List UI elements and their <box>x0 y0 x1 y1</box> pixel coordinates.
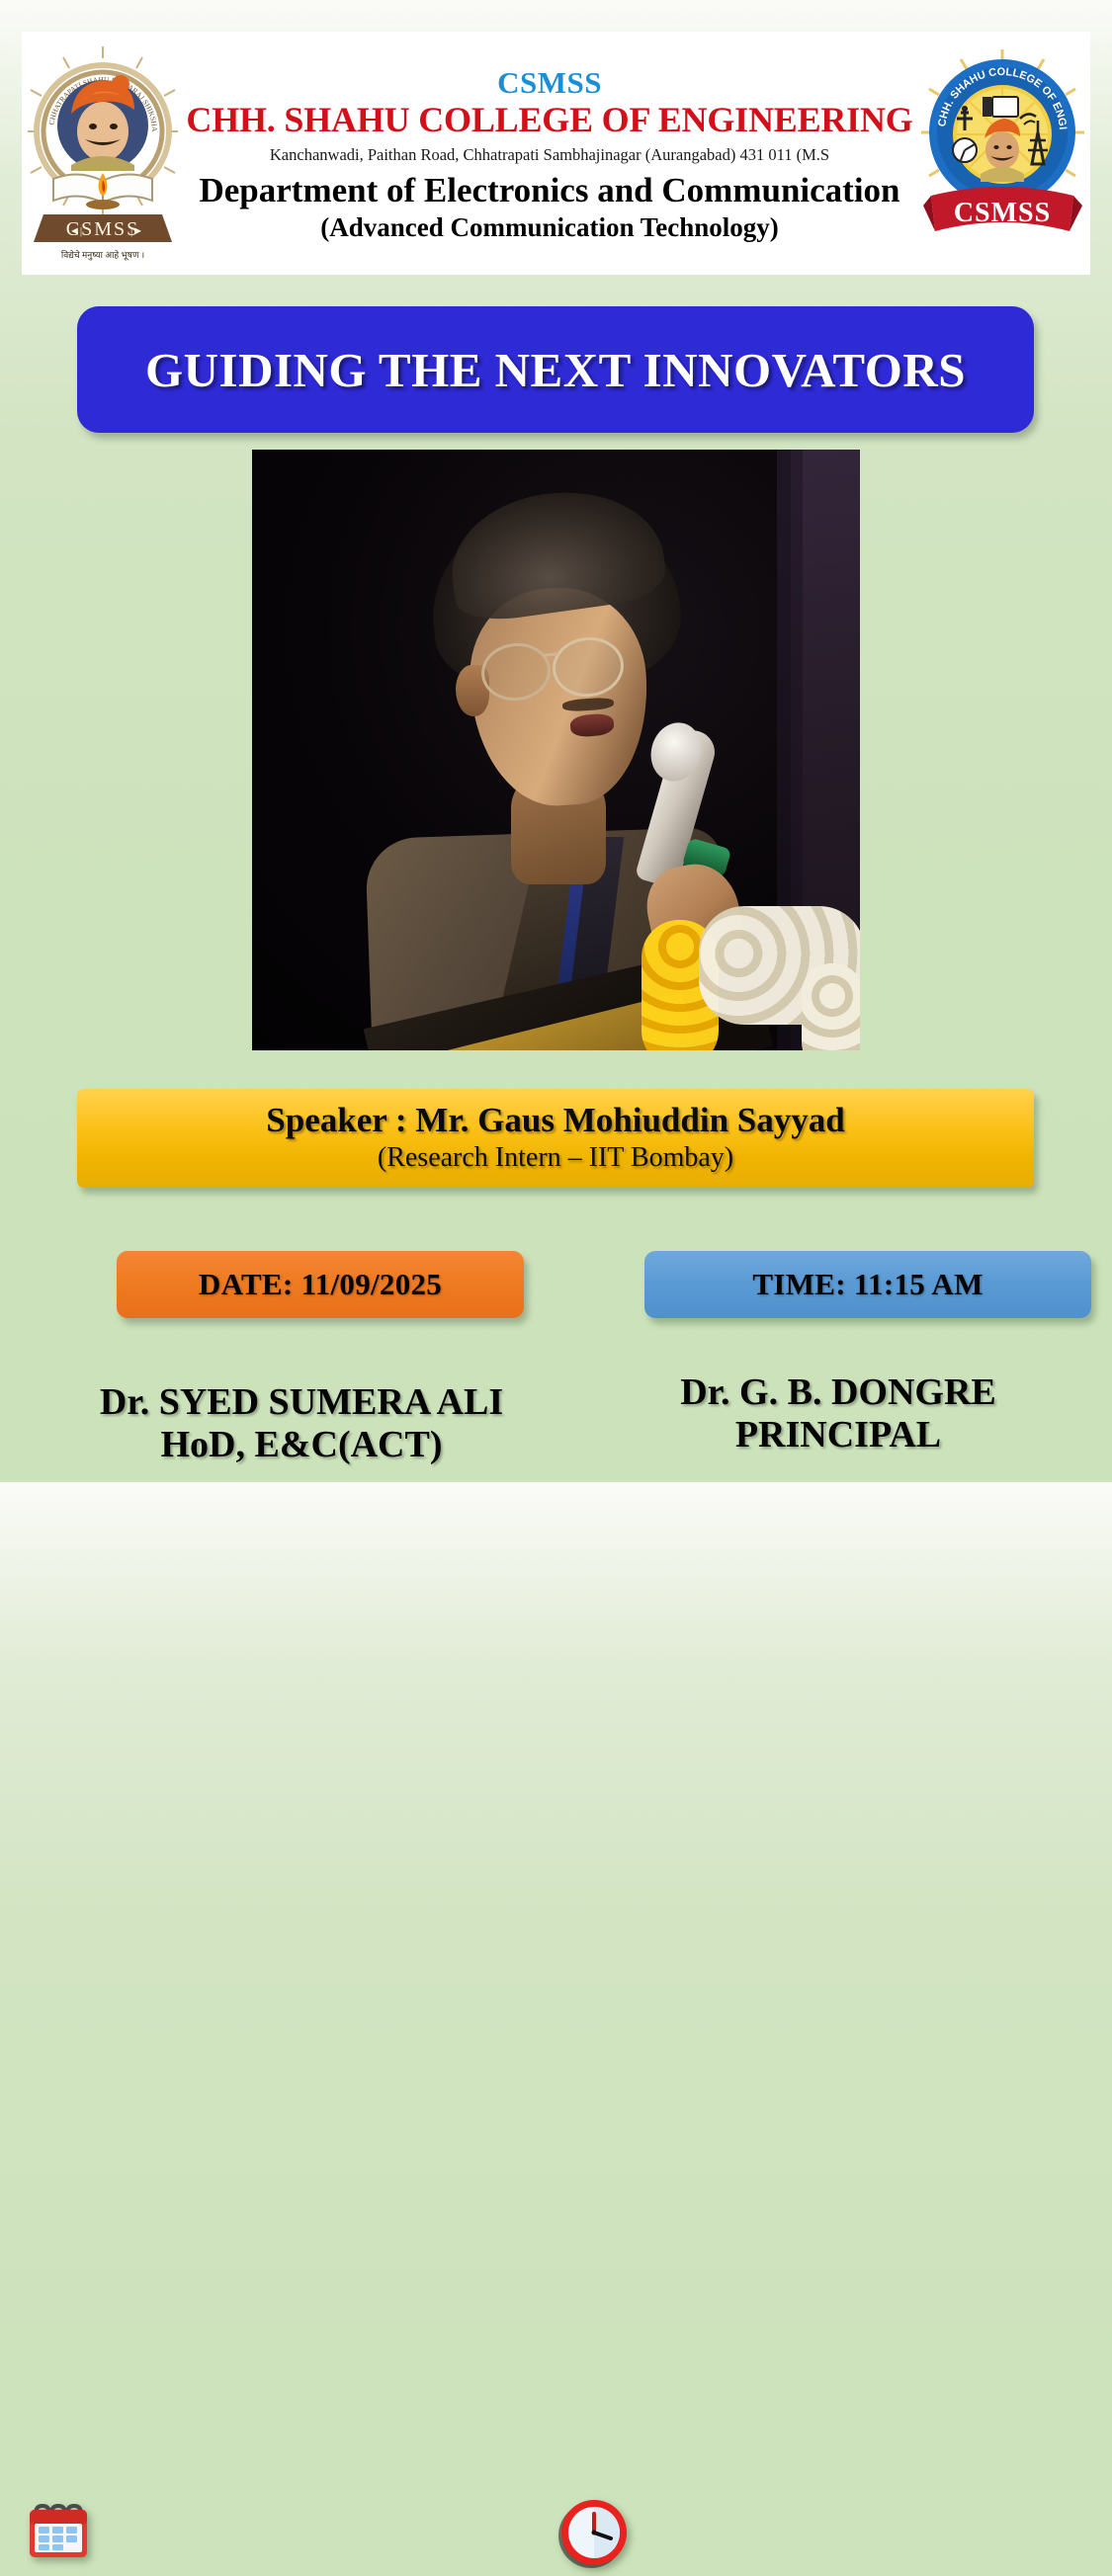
clock-icon <box>556 2496 631 2571</box>
principal-name: Dr. G. B. DONGRE <box>581 1371 1095 1414</box>
poster: CHHATRAPATI SHAHU MAHARAJ SHIKSHAN SANST… <box>0 0 1112 1482</box>
principal-role: PRINCIPAL <box>581 1414 1095 1456</box>
svg-text:CSMSS: CSMSS <box>954 198 1051 228</box>
speaker-photo <box>252 450 860 1050</box>
institution-header: CHHATRAPATI SHAHU MAHARAJ SHIKSHAN SANST… <box>22 32 1090 275</box>
hod-role: HoD, E&C(ACT) <box>40 1424 563 1466</box>
csmss-sanstha-logo: CHHATRAPATI SHAHU MAHARAJ SHIKSHAN SANST… <box>28 41 178 266</box>
footer-signatories: Dr. SYED SUMERA ALI HoD, E&C(ACT) Dr. G.… <box>0 1371 1112 1480</box>
college-address: Kanchanwadi, Paithan Road, Chhatrapati S… <box>182 145 917 165</box>
hod-name: Dr. SYED SUMERA ALI <box>40 1381 563 1424</box>
date-text: DATE: 11/09/2025 <box>199 1267 442 1302</box>
department-name: Department of Electronics and Communicat… <box>182 171 917 209</box>
org-abbr: CSMSS <box>182 67 917 98</box>
speaker-affiliation: (Research Intern – IIT Bombay) <box>378 1143 733 1174</box>
svg-text:◄|: ◄| <box>69 225 82 237</box>
date-badge: DATE: 11/09/2025 <box>117 1251 524 1318</box>
csmss-college-logo: CHH. SHAHU COLLEGE OF ENGINEERING <box>921 47 1084 260</box>
department-sub: (Advanced Communication Technology) <box>182 212 917 243</box>
calendar-icon <box>22 2498 93 2569</box>
time-badge: TIME: 11:15 AM <box>644 1251 1091 1318</box>
event-title-banner: GUIDING THE NEXT INNOVATORS <box>77 306 1034 433</box>
header-text-block: CSMSS CHH. SHAHU COLLEGE OF ENGINEERING … <box>178 63 921 242</box>
svg-text:|►: |► <box>130 225 143 237</box>
signatory-hod: Dr. SYED SUMERA ALI HoD, E&C(ACT) <box>40 1381 563 1467</box>
time-text: TIME: 11:15 AM <box>752 1267 983 1302</box>
marigold-garland-white-strand <box>802 963 860 1050</box>
speaker-name: Speaker : Mr. Gaus Mohiuddin Sayyad <box>266 1103 844 1139</box>
event-title: GUIDING THE NEXT INNOVATORS <box>145 342 966 398</box>
signatory-principal: Dr. G. B. DONGRE PRINCIPAL <box>581 1371 1095 1457</box>
event-datetime-row: DATE: 11/09/2025 TIME: 11:15 AM <box>0 1247 1112 1336</box>
college-name: CHH. SHAHU COLLEGE OF ENGINEERING <box>182 100 917 139</box>
svg-text:विद्येचे मनुष्या आहे भूषण ।: विद्येचे मनुष्या आहे भूषण । <box>61 249 144 261</box>
speaker-banner: Speaker : Mr. Gaus Mohiuddin Sayyad (Res… <box>77 1089 1034 1188</box>
